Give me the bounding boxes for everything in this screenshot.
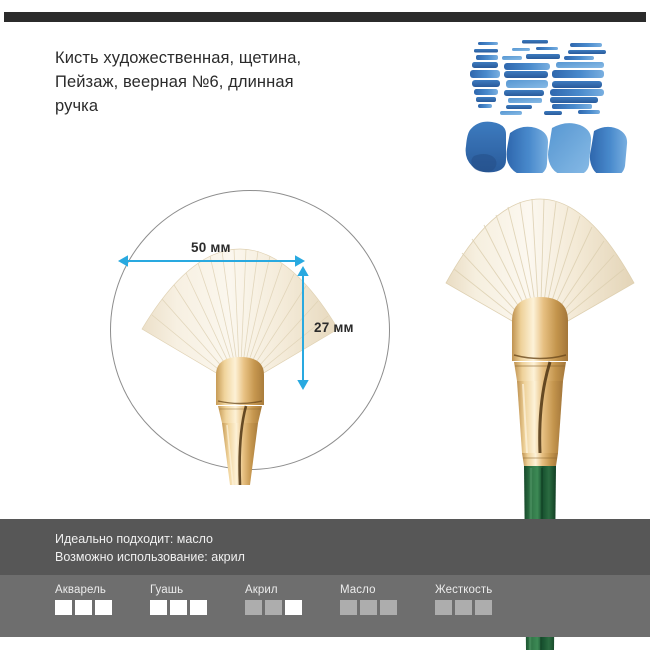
rating-boxes [340, 600, 435, 615]
rating-box [190, 600, 207, 615]
top-rule-divider [4, 12, 646, 22]
rating-group-maslo: Масло [340, 584, 435, 629]
rating-group-guash: Гуашь [150, 584, 245, 629]
rating-label: Жесткость [435, 584, 530, 596]
fan-brush-detail [100, 185, 390, 485]
rating-label: Гуашь [150, 584, 245, 596]
rating-boxes [55, 600, 150, 615]
rating-box [360, 600, 377, 615]
product-infographic: Кисть художественная, щетина, Пейзаж, ве… [0, 0, 650, 650]
rating-box [340, 600, 357, 615]
rating-box [95, 600, 112, 615]
rating-group-akril: Акрил [245, 584, 340, 629]
rating-group-zhestkost: Жесткость [435, 584, 530, 629]
blue-paint-swatches [452, 38, 642, 173]
rating-label: Акварель [55, 584, 150, 596]
rating-box [455, 600, 472, 615]
rating-boxes [150, 600, 245, 615]
rating-box [285, 600, 302, 615]
rating-box [380, 600, 397, 615]
height-dimension-label: 27 мм [314, 320, 354, 335]
page-title: Кисть художественная, щетина, Пейзаж, ве… [55, 46, 405, 118]
rating-box [170, 600, 187, 615]
rating-label: Акрил [245, 584, 340, 596]
rating-group-akvarel: Акварель [55, 584, 150, 629]
rating-box [435, 600, 452, 615]
rating-box [55, 600, 72, 615]
rating-box [475, 600, 492, 615]
rating-box [265, 600, 282, 615]
rating-boxes [245, 600, 340, 615]
ratings-list: Акварель Гуашь Акрил Масло [55, 584, 615, 629]
rating-box [245, 600, 262, 615]
rating-box [75, 600, 92, 615]
rating-label: Масло [340, 584, 435, 596]
rating-box [150, 600, 167, 615]
usage-text: Идеально подходит: масло Возможно исполь… [55, 530, 245, 566]
width-dimension-label: 50 мм [191, 240, 231, 255]
rating-boxes [435, 600, 530, 615]
